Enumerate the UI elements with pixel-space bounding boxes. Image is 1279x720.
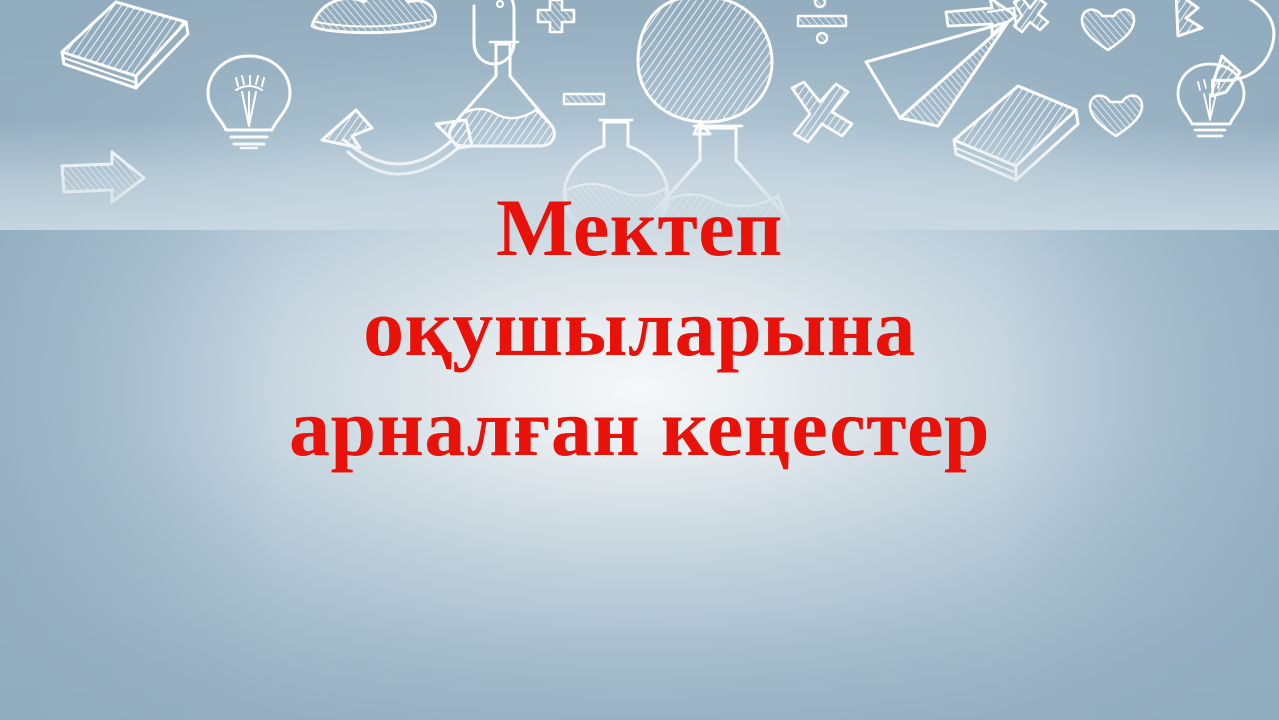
slide-title: Мектеп оқушыларына арналған кеңестер — [0, 178, 1279, 478]
loop-arrow-icon — [322, 110, 472, 174]
lightbulb-icon — [208, 56, 290, 148]
heart-icon — [1082, 10, 1134, 50]
multiply-small-icon — [1014, 0, 1048, 32]
balloon-icon — [638, 0, 772, 134]
flask-conical-icon — [450, 42, 555, 146]
title-line-1: Мектеп — [40, 178, 1239, 278]
curved-arrow-icon — [1176, 0, 1274, 96]
book-icon — [62, 2, 188, 88]
paperclip-icon — [474, 0, 514, 64]
title-line-3: арналған кеңестер — [40, 378, 1239, 478]
multiply-icon — [792, 82, 852, 142]
plus-icon — [538, 0, 574, 32]
cloud-scribble-icon — [312, 0, 435, 33]
heart-icon — [1090, 96, 1142, 136]
minus-icon — [564, 94, 604, 104]
divide-icon — [798, 0, 846, 43]
presentation-slide: Мектеп оқушыларына арналған кеңестер — [0, 0, 1279, 720]
title-line-2: оқушыларына — [40, 278, 1239, 378]
book-icon — [954, 86, 1078, 180]
